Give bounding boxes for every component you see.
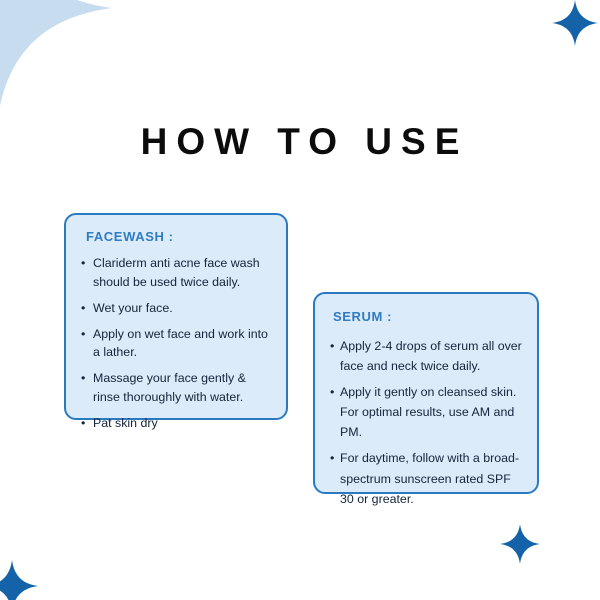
list-item: Clariderm anti acne face wash should be … <box>80 254 274 292</box>
sparkle-bottom-right-icon <box>500 521 540 567</box>
serum-card: SERUM : Apply 2-4 drops of serum all ove… <box>313 292 539 494</box>
sparkle-top-right-icon <box>552 0 598 50</box>
list-item: Apply it gently on cleansed skin. For op… <box>329 382 527 442</box>
list-item: Apply 2-4 drops of serum all over face a… <box>329 336 527 376</box>
list-item: Massage your face gently & rinse thoroug… <box>80 369 274 407</box>
sparkle-top-left-icon <box>0 0 112 128</box>
list-item: Wet your face. <box>80 299 274 318</box>
facewash-instruction-list: Clariderm anti acne face wash should be … <box>80 254 274 433</box>
facewash-card-heading: FACEWASH : <box>86 229 274 244</box>
list-item: Apply on wet face and work into a lather… <box>80 325 274 363</box>
page-title: HOW TO USE <box>0 122 600 163</box>
how-to-use-poster: HOW TO USE FACEWASH : Clariderm anti acn… <box>0 0 600 600</box>
list-item: For daytime, follow with a broad-spectru… <box>329 448 527 508</box>
serum-card-heading: SERUM : <box>333 309 527 324</box>
serum-instruction-list: Apply 2-4 drops of serum all over face a… <box>329 336 527 509</box>
list-item: Pat skin dry <box>80 414 274 433</box>
sparkle-bottom-left-icon <box>0 556 38 600</box>
facewash-card: FACEWASH : Clariderm anti acne face wash… <box>64 213 288 420</box>
